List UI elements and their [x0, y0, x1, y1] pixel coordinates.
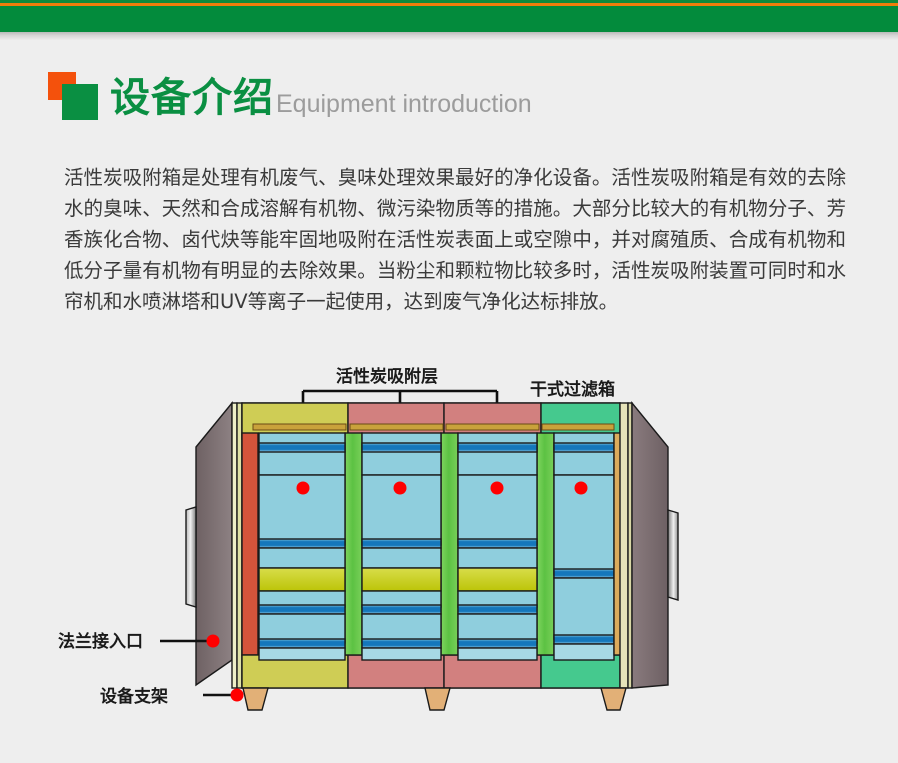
- callout-carbon-layer-label: 活性炭吸附层: [336, 366, 438, 387]
- equipment-leg-2: [425, 688, 450, 710]
- top-rail-4: [542, 424, 614, 430]
- page-title: 设备介绍 Equipment introduction: [48, 68, 532, 120]
- adsorption-bay-3: [458, 433, 537, 660]
- bay2-band-yellow: [362, 568, 441, 591]
- top-rail-1: [253, 424, 346, 430]
- callout-marker-flange: [207, 635, 220, 648]
- bay-divider-3: [537, 433, 554, 655]
- banner-shadow: [0, 32, 898, 40]
- callout-equipment-stand: 设备支架: [100, 686, 244, 707]
- bay2-panel-f: [362, 648, 441, 660]
- bay3-panel-f: [458, 648, 537, 660]
- bay-divider-2: [441, 433, 458, 655]
- bay4-panel-a: [554, 433, 614, 475]
- callout-equipment-stand-label: 设备支架: [100, 686, 168, 707]
- bay1-band-yellow: [259, 568, 345, 591]
- logo-square-green-icon: [62, 84, 98, 120]
- bay2-band-c: [362, 605, 441, 614]
- cabinet-right-side-face: [632, 403, 668, 688]
- callout-marker-bay1: [297, 482, 310, 495]
- bay4-panel-d: [554, 644, 614, 660]
- adsorption-bay-2: [362, 433, 441, 660]
- intro-paragraph: 活性炭吸附箱是处理有机废气、臭味处理效果最好的净化设备。活性炭吸附箱是有效的去除…: [64, 162, 846, 317]
- bay1-band-b: [259, 539, 345, 548]
- bay2-panel-c: [362, 548, 441, 568]
- bay2-band-d: [362, 639, 441, 648]
- bay4-band-c: [554, 635, 614, 644]
- bay2-panel-a: [362, 433, 441, 475]
- callout-marker-bay3: [491, 482, 504, 495]
- bay3-band-d: [458, 639, 537, 648]
- section-title-en: Equipment introduction: [276, 88, 532, 120]
- adsorption-bay-1: [259, 433, 345, 660]
- cabinet-right-frame-strip-1: [620, 403, 628, 688]
- bay3-panel-a: [458, 433, 537, 475]
- bay3-band-yellow: [458, 568, 537, 591]
- equipment-leg-1: [243, 688, 268, 710]
- callout-marker-stand: [231, 689, 244, 702]
- bay3-band-c: [458, 605, 537, 614]
- outlet-duct-right: [668, 510, 678, 600]
- banner-bar-green: [0, 6, 898, 32]
- cabinet-inner-left-wall: [242, 433, 258, 655]
- bay1-band-c: [259, 605, 345, 614]
- callout-flange-inlet-label: 法兰接入口: [58, 631, 143, 652]
- callout-flange-inlet: 法兰接入口: [58, 631, 220, 652]
- callout-marker-bay4: [575, 482, 588, 495]
- top-banner: [0, 0, 898, 38]
- callout-carbon-layer: 活性炭吸附层: [336, 366, 438, 387]
- callout-dry-filter-box: 干式过滤箱: [530, 379, 615, 400]
- bay3-band-a: [458, 443, 537, 452]
- bay1-band-d: [259, 639, 345, 648]
- bay4-band-a: [554, 443, 614, 452]
- top-rail-2: [350, 424, 443, 430]
- bay2-band-b: [362, 539, 441, 548]
- bay3-panel-c: [458, 548, 537, 568]
- callout-marker-bay2: [394, 482, 407, 495]
- logo-squares-icon: [48, 70, 100, 120]
- top-rail-3: [446, 424, 539, 430]
- flange-duct-left: [186, 507, 196, 607]
- equipment-diagram: 活性炭吸附层 干式过滤箱: [0, 355, 898, 755]
- equipment-leg-3: [601, 688, 626, 710]
- cabinet-left-frame-strip-2: [237, 403, 242, 688]
- callout-dry-filter-box-label: 干式过滤箱: [530, 379, 615, 400]
- bay2-band-a: [362, 443, 441, 452]
- section-title-cn: 设备介绍: [110, 76, 274, 120]
- bay4-band-b: [554, 569, 614, 578]
- bay3-band-b: [458, 539, 537, 548]
- bay-divider-1: [345, 433, 362, 655]
- cabinet-body: [186, 403, 678, 710]
- bay1-panel-a: [259, 433, 345, 475]
- dry-filter-bay: [554, 433, 614, 660]
- cabinet-left-frame-strip-1: [232, 403, 237, 688]
- bay1-panel-c: [259, 548, 345, 568]
- bay1-panel-f: [259, 648, 345, 660]
- bay4-panel-c: [554, 578, 614, 639]
- bay1-band-a: [259, 443, 345, 452]
